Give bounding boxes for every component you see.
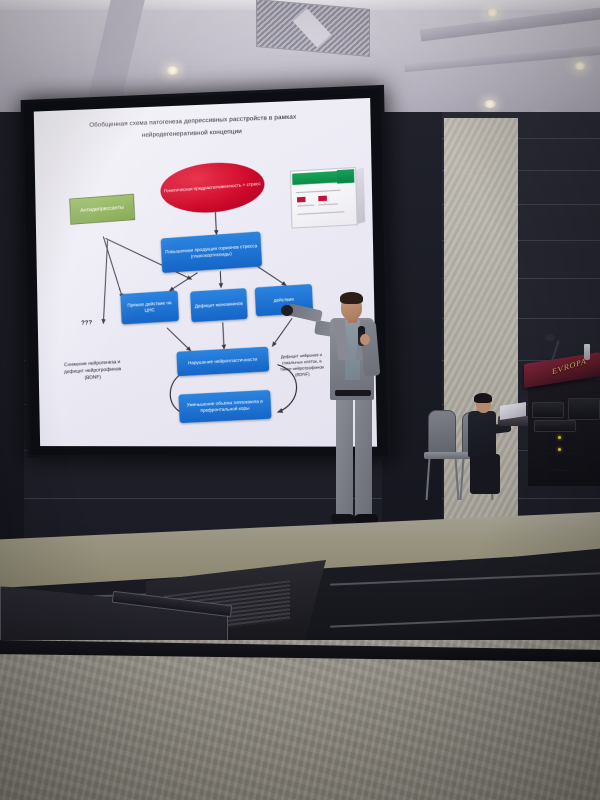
av-equipment-box [534,420,576,432]
speaker-hair [340,292,363,304]
presentation-slide: Обобщенная схема патогенеза депрессивных… [34,98,377,447]
note-left-neurogenesis: Снижение нейрогенеза и дефицит нейротроф… [63,359,123,384]
podium: EVROPA [524,358,600,486]
node-monoamine-deficit: Дефицит моноаминов [190,288,248,322]
node-antidepressants: Антидепрессанты [69,194,135,225]
downlight-icon [574,62,586,70]
downlight-icon [484,100,496,108]
node-neuroplasticity: Нарушение нейропластичности [176,347,269,377]
node-direct-cns: Прямое действие на ЦНС [120,290,179,324]
speaker-leg-right [355,394,372,519]
seated-hair [474,393,492,403]
speaker-belt [335,390,371,396]
question-marks: ??? [81,320,92,327]
ceiling-air-vent [256,0,370,57]
node-cortisol: Повышенная продукция гормонов стресса (г… [161,231,262,273]
projection-screen: Обобщенная схема патогенеза депрессивных… [34,98,377,447]
speaker-hand-left [360,334,370,345]
speaker-leg-left [336,394,353,519]
podium-venue-label: EVROPA [552,356,587,376]
node-hippocampus: Уменьшение объема гиппокампа и префронта… [178,390,271,423]
conference-photo-scene: Обобщенная схема патогенеза депрессивных… [0,0,600,800]
downlight-icon [486,8,499,17]
wall-column-left [0,112,24,542]
seated-legs [470,454,500,494]
speaker-shoe-left [331,514,355,523]
drug-package-image [290,167,358,229]
floor [0,640,600,800]
av-equipment-box [532,402,564,418]
note-right-neurons: Дефицит нейронов и глиальных клеток, а т… [279,352,325,379]
speaker-shoe-right [354,514,378,523]
cable [540,444,584,471]
wall-column-dark [382,112,442,542]
podium-microphone-icon [546,334,555,341]
speaker-pointing-hand [281,305,293,316]
downlight-icon [166,66,179,75]
av-equipment-box [568,398,600,420]
water-bottle [584,344,590,360]
